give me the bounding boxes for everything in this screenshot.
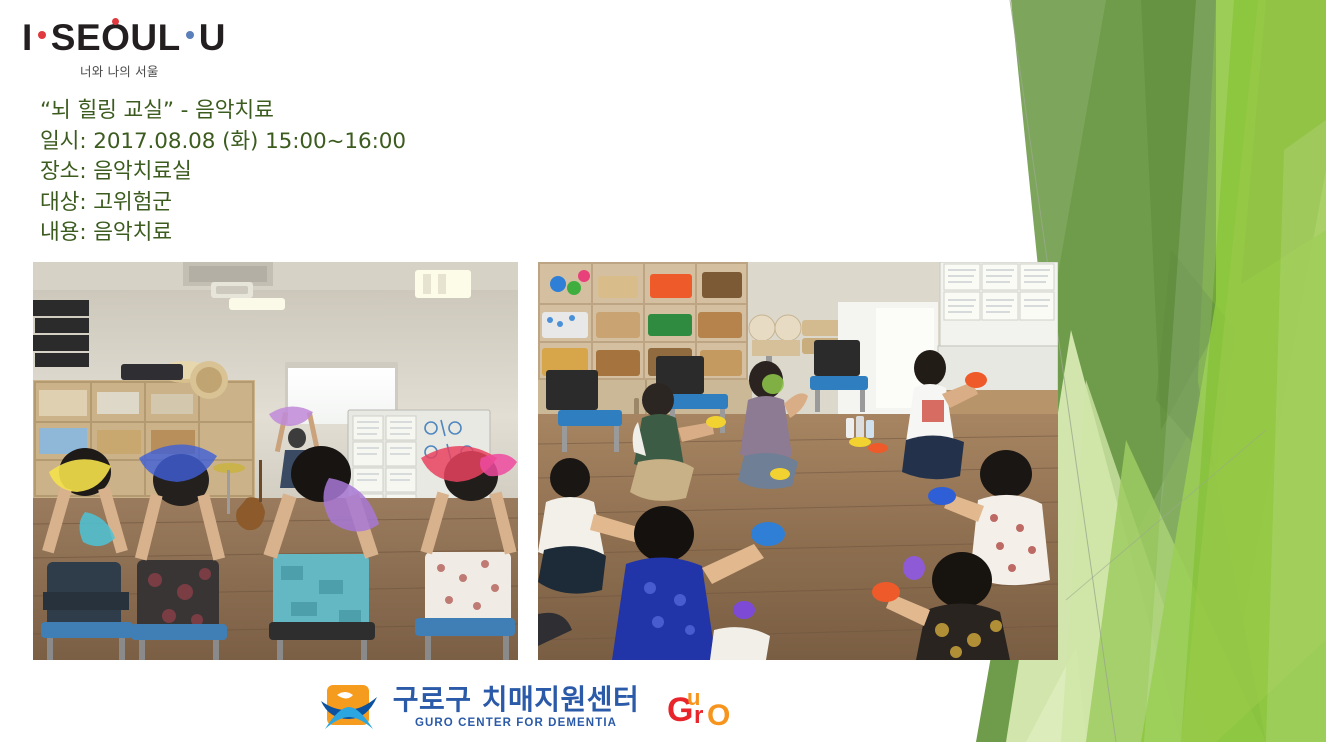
logo-letters-ul: UL xyxy=(130,19,180,56)
slide-canvas: I SE O UL U 너와 나의 서울 “뇌 힐링 교실” - 음악치료 일시… xyxy=(0,0,1326,742)
session-info-block: “뇌 힐링 교실” - 음악치료 일시: 2017.08.08 (화) 15:0… xyxy=(40,96,406,249)
logo-letter-i: I xyxy=(22,19,33,56)
session-datetime: 일시: 2017.08.08 (화) 15:00~16:00 xyxy=(40,127,406,158)
logo-letters-se: SE xyxy=(51,19,101,56)
logo-letter-u: U xyxy=(199,19,226,56)
session-target-group: 대상: 고위험군 xyxy=(40,188,406,219)
i-seoul-u-tagline: 너와 나의 서울 xyxy=(80,61,282,80)
logo-letter-o: O xyxy=(101,19,130,56)
guro-center-mark-icon xyxy=(319,683,379,731)
guro-center-wordmark: 구로구 치매지원센터 GURO CENTER FOR DEMENTIA xyxy=(393,685,640,728)
session-title: “뇌 힐링 교실” - 음악치료 xyxy=(40,96,406,127)
svg-text:O: O xyxy=(707,699,730,729)
photo-music-therapy-scarves xyxy=(33,262,518,660)
i-seoul-u-wordmark: I SE O UL U xyxy=(22,16,282,58)
logo-dot-blue xyxy=(186,31,194,39)
guro-center-name-korean: 구로구 치매지원센터 xyxy=(393,685,640,714)
guro-badge-logo: G u r O xyxy=(667,685,741,729)
logo-dot-red-accent xyxy=(112,18,119,25)
footer-logo-row: 구로구 치매지원센터 GURO CENTER FOR DEMENTIA G u … xyxy=(0,676,1060,738)
photo-music-therapy-cups xyxy=(538,262,1058,660)
svg-text:r: r xyxy=(694,702,703,729)
i-seoul-u-logo: I SE O UL U 너와 나의 서울 xyxy=(22,16,282,78)
logo-dot-red-1 xyxy=(38,31,46,39)
guro-center-name-english: GURO CENTER FOR DEMENTIA xyxy=(415,717,617,729)
session-location: 장소: 음악치료실 xyxy=(40,157,406,188)
session-content: 내용: 음악치료 xyxy=(40,218,406,249)
